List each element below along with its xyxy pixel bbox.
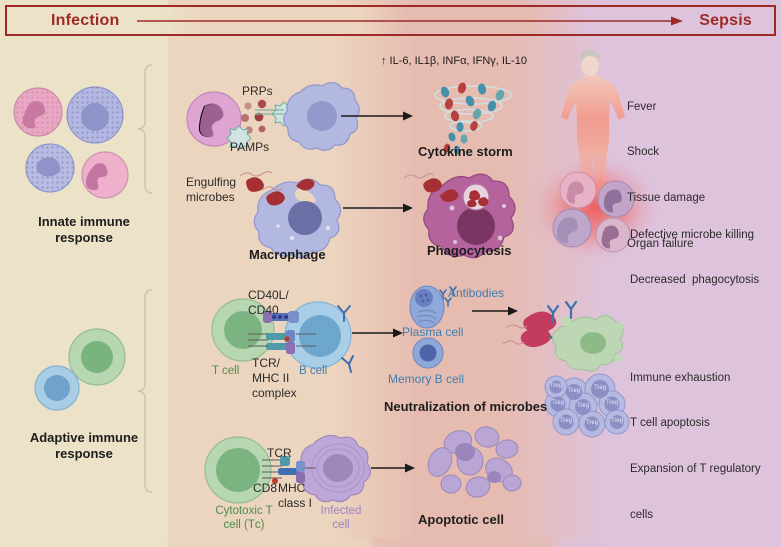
band-infection-stage bbox=[0, 0, 168, 547]
treg-badge-label: Treg bbox=[571, 403, 595, 411]
infection-label: Infection bbox=[51, 12, 119, 30]
cytotoxic-t-cell-label: Cytotoxic T cell (Tᴄ) bbox=[199, 504, 289, 533]
outcome-item: Shock bbox=[627, 145, 705, 160]
treg-badge-label: Treg bbox=[580, 420, 604, 428]
cytokine-storm-title: Cytokine storm bbox=[418, 144, 513, 160]
outcome-item: Expansion of T regulatory bbox=[630, 462, 761, 477]
cd8-label: CD8 bbox=[253, 481, 277, 496]
outcome-item: Immune exhaustion bbox=[630, 371, 761, 386]
treg-badge-label: Treg bbox=[544, 383, 568, 391]
tcr-label: TCR bbox=[267, 446, 292, 461]
innate-failure-list: Defective microbe killing Decreased phag… bbox=[630, 197, 759, 319]
antibodies-label: Antibodies bbox=[448, 286, 504, 301]
engulfing-microbes-label: Engulfing microbes bbox=[186, 175, 236, 205]
right-arrow-icon bbox=[137, 16, 683, 26]
treg-badge-label: Treg bbox=[546, 400, 570, 408]
cd40l-cd40-label: CD40L/ CD40 bbox=[248, 288, 289, 318]
neutralization-title: Neutralization of microbes bbox=[384, 399, 547, 415]
outcome-item: cells bbox=[630, 508, 761, 523]
infected-cell-label: Infected cell bbox=[305, 504, 377, 533]
plasma-cell-label: Plasma cell bbox=[402, 325, 463, 340]
adaptive-immune-response-title: Adaptive immune response bbox=[10, 430, 158, 463]
b-cell-label: B cell bbox=[299, 364, 327, 378]
phagocytosis-title: Phagocytosis bbox=[427, 243, 512, 259]
prps-label: PRPs bbox=[242, 84, 273, 99]
bottom-color-strip bbox=[0, 538, 781, 547]
macrophage-label: Macrophage bbox=[249, 247, 326, 263]
memory-b-cell-label: Memory B cell bbox=[388, 372, 464, 387]
outcome-item: Decreased phagocytosis bbox=[630, 273, 759, 288]
sepsis-immune-response-diagram: Infection Sepsis bbox=[0, 0, 781, 547]
sepsis-label: Sepsis bbox=[699, 12, 752, 30]
tcr-mhc2-label: TCR/ MHC II complex bbox=[252, 356, 297, 401]
cytokine-list-label: ↑ IL-6, IL1β, INFα, IFNγ, IL-10 bbox=[381, 55, 527, 69]
band-gradient-blend-1 bbox=[330, 0, 420, 547]
innate-immune-response-title: Innate immune response bbox=[14, 214, 154, 247]
treg-badge-label: Treg bbox=[588, 385, 612, 393]
treg-badge-label: Treg bbox=[600, 400, 624, 408]
treg-badge-label: Treg bbox=[554, 418, 578, 426]
outcome-item: T cell apoptosis bbox=[630, 416, 761, 431]
outcome-item: Fever bbox=[627, 100, 705, 115]
apoptotic-cell-title: Apoptotic cell bbox=[418, 512, 504, 528]
t-cell-label: T cell bbox=[212, 364, 239, 378]
treg-badge-label: Treg bbox=[605, 418, 629, 426]
outcome-item: Defective microbe killing bbox=[630, 228, 759, 243]
band-gradient-blend-2 bbox=[500, 0, 610, 547]
pamps-label: PAMPs bbox=[230, 140, 269, 155]
progression-banner: Infection Sepsis bbox=[5, 5, 776, 36]
adaptive-failure-list: Immune exhaustion T cell apoptosis Expan… bbox=[630, 340, 761, 547]
